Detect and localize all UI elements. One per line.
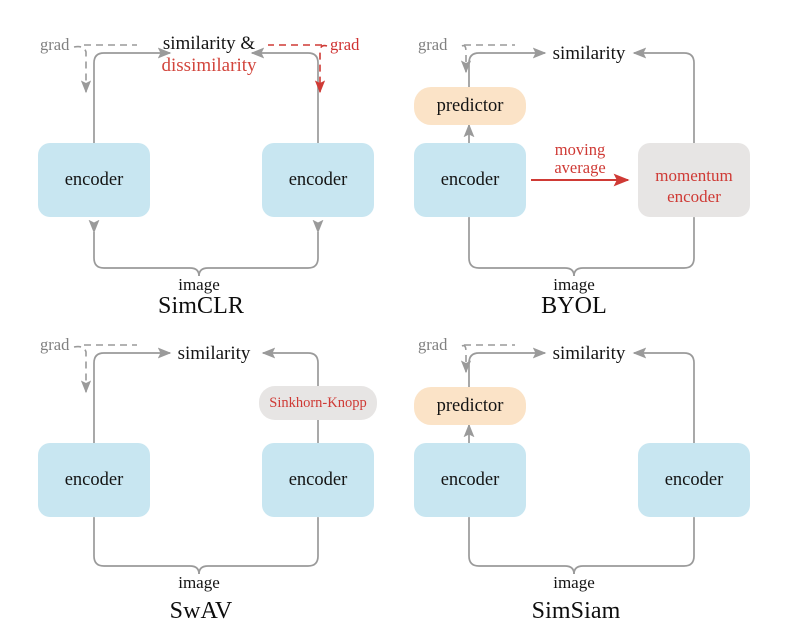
swav-left-encoder-label: encoder <box>38 443 150 517</box>
simsiam-right-encoder-label: encoder <box>638 443 750 517</box>
figure-canvas: grad grad similarity & dissimilarity enc… <box>0 0 790 636</box>
box-layer <box>0 0 790 636</box>
byol-encoder-label: encoder <box>414 143 526 217</box>
byol-predictor-label: predictor <box>414 87 526 125</box>
swav-sinkhorn-knopp-label: Sinkhorn-Knopp <box>259 386 377 420</box>
simsiam-left-encoder-label: encoder <box>414 443 526 517</box>
simclr-left-encoder-label: encoder <box>38 143 150 217</box>
simsiam-predictor-label: predictor <box>414 387 526 425</box>
simclr-right-encoder-label: encoder <box>262 143 374 217</box>
swav-right-encoder-label: encoder <box>262 443 374 517</box>
byol-momentum-encoder-box[interactable] <box>638 143 750 217</box>
